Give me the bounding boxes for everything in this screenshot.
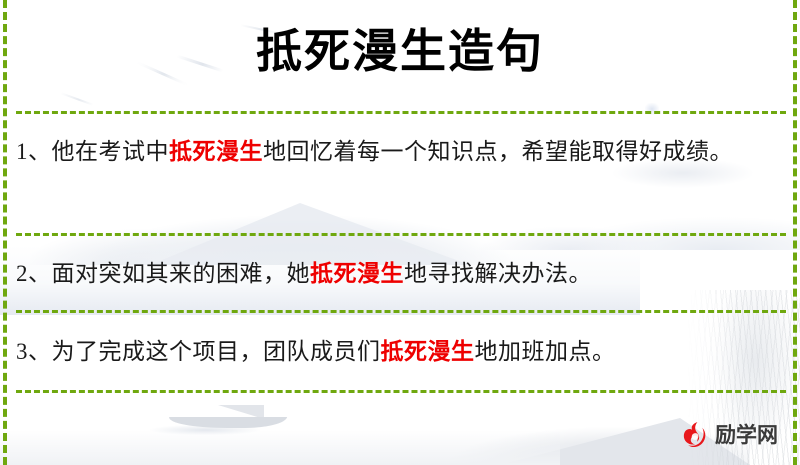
- flame-swirl-icon: [679, 420, 710, 451]
- divider-1: [16, 111, 786, 114]
- sentence-text-before: 他在考试中: [52, 139, 170, 164]
- divider-3: [16, 310, 786, 313]
- sentence-text-before: 为了完成这个项目，团队成员们: [52, 339, 381, 364]
- sentence-text-after: 地加班加点。: [475, 339, 616, 364]
- card-content: 抵死漫生造句 1、他在考试中抵死漫生地回忆着每一个知识点，希望能取得好成绩。 2…: [0, 0, 800, 465]
- divider-2: [16, 233, 786, 236]
- sentence-text-after: 地寻找解决办法。: [404, 261, 592, 286]
- sentence-item-2: 2、面对突如其来的困难，她抵死漫生地寻找解决办法。: [16, 255, 788, 292]
- sentence-example-card: 抵死漫生造句 1、他在考试中抵死漫生地回忆着每一个知识点，希望能取得好成绩。 2…: [0, 0, 800, 465]
- sentence-number: 2、: [16, 261, 52, 286]
- keyword-highlight: 抵死漫生: [310, 261, 404, 286]
- site-logo-text: 励学网: [715, 425, 778, 446]
- sentence-number: 1、: [16, 139, 52, 164]
- keyword-highlight: 抵死漫生: [381, 339, 475, 364]
- page-title: 抵死漫生造句: [0, 24, 800, 79]
- sentence-number: 3、: [16, 339, 52, 364]
- keyword-highlight: 抵死漫生: [169, 139, 263, 164]
- site-logo[interactable]: 励学网: [679, 420, 778, 451]
- sentence-item-1: 1、他在考试中抵死漫生地回忆着每一个知识点，希望能取得好成绩。: [16, 133, 788, 170]
- sentence-item-3: 3、为了完成这个项目，团队成员们抵死漫生地加班加点。: [16, 333, 788, 370]
- divider-4: [16, 390, 786, 393]
- sentence-text-before: 面对突如其来的困难，她: [52, 261, 311, 286]
- sentence-text-after: 地回忆着每一个知识点，希望能取得好成绩。: [263, 139, 733, 164]
